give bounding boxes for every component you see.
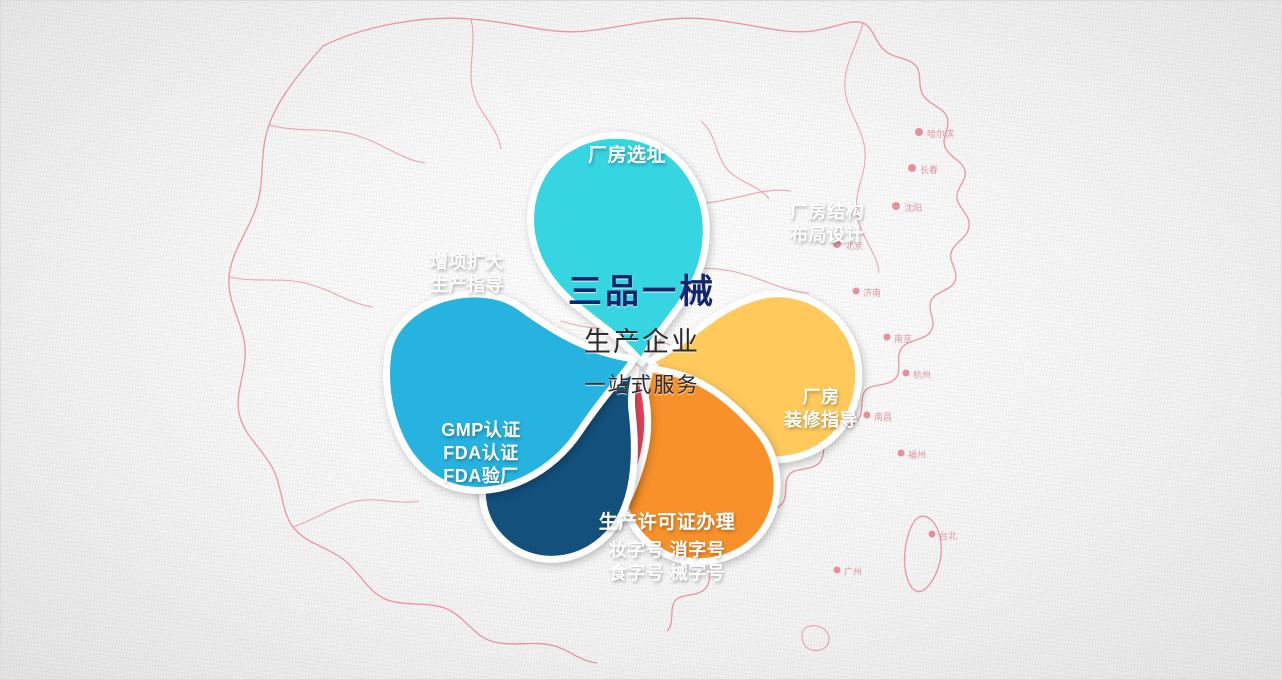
infographic-canvas: 哈尔滨 长春 沈阳 北京 济南 郑州 南京 武汉 杭州 长沙 南昌 福州 广州 … <box>0 0 1282 680</box>
process-wheel <box>342 63 942 633</box>
